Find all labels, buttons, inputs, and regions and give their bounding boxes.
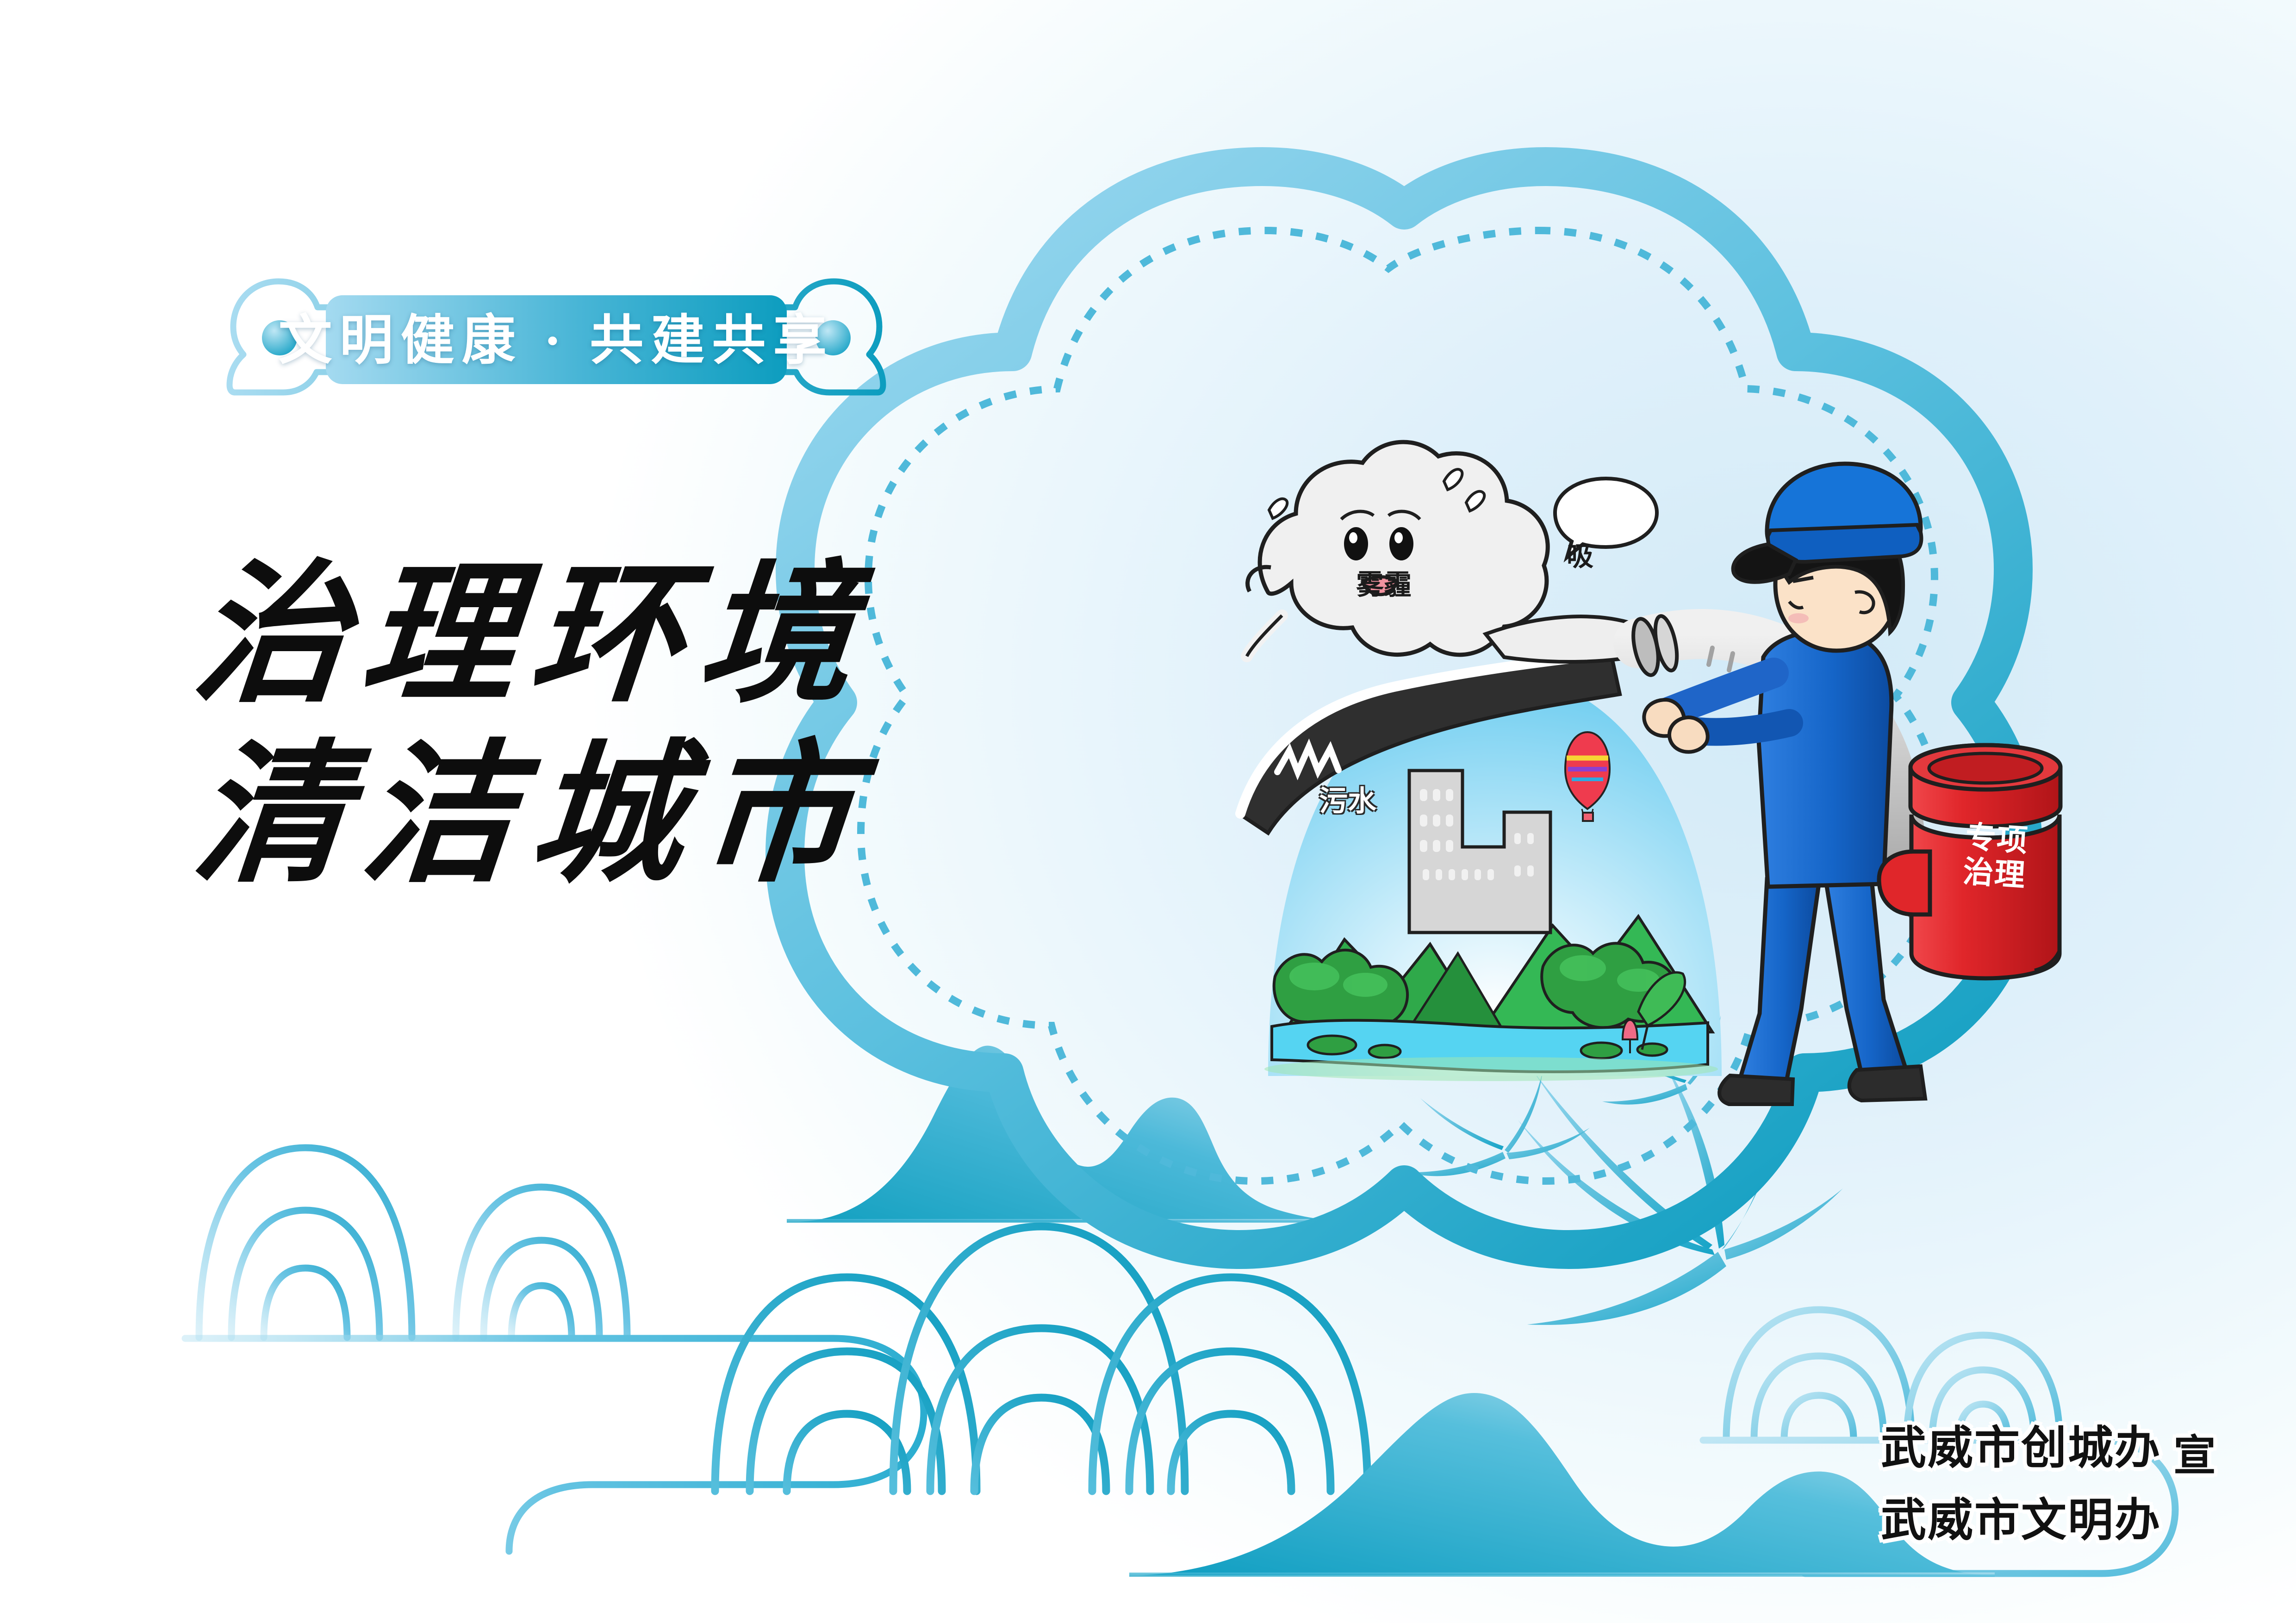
badge-dot-left: [262, 320, 297, 355]
badge-frame: [209, 273, 903, 398]
page-title: 治理环境 清洁城市: [194, 546, 1027, 907]
suck-bubble-label: 吸: [1567, 535, 1593, 573]
signature-orgs: 武威市创城办 武威市文明办: [1881, 1411, 2161, 1549]
signature-suffix: 宣: [2173, 1421, 2217, 1483]
signature-block: 武威市创城办 武威市文明办 宣: [1881, 1411, 2217, 1549]
canister-label-top: 专项: [1954, 819, 2040, 859]
canister-inlet: [1879, 852, 1930, 914]
badge-dot-right: [815, 320, 851, 355]
title-line-1: 治理环境: [187, 546, 1035, 726]
smog-label: 雾霾: [1356, 562, 1412, 603]
title-line-2: 清洁城市: [187, 726, 1035, 906]
signature-org-2: 武威市文明办: [1881, 1483, 2161, 1549]
smog-character: [1247, 442, 1548, 656]
poster-canvas: 雾霾 污水 吸 专项 治理 文明健康 · 共建共享 治理环境 清洁城市 武威市创…: [0, 0, 2296, 1623]
slogan-badge: 文明健康 · 共建共享: [209, 273, 903, 398]
signature-org-1: 武威市创城办: [1881, 1411, 2161, 1477]
sewage-label: 污水: [1319, 777, 1376, 819]
canister-label: 专项 治理: [1952, 819, 2040, 894]
canister-label-bottom: 治理: [1952, 853, 2037, 894]
